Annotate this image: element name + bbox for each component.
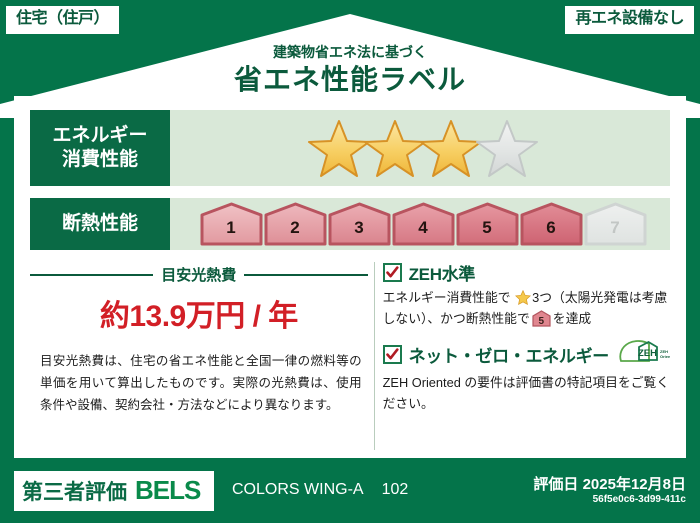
zeh-column: ZEH水準 エネルギー消費性能で 3つ（太陽光発電は考慮しない）、かつ断熱性能で… — [383, 260, 670, 456]
column-divider — [374, 262, 375, 450]
net-zero-checkbox[interactable] — [383, 345, 402, 364]
insulation-performance-value: 1234567 — [170, 198, 670, 250]
zeh-standard-checkbox[interactable] — [383, 263, 402, 282]
label-footer: 第三者評価 BELS COLORS WING-A102 評価日 2025年12月… — [0, 465, 700, 523]
insulation-performance-row: 断熱性能 1234567 — [30, 198, 670, 250]
energy-performance-label: エネルギー 消費性能 — [30, 110, 170, 186]
net-zero-body: ZEH Oriented の要件は評価書の特記項目をご覧ください。 — [383, 373, 670, 414]
house-level-filled: 3 — [328, 202, 391, 246]
cost-heading-text: 目安光熱費 — [161, 264, 236, 285]
house-level-filled: 6 — [520, 202, 583, 246]
zeh-standard-body: エネルギー消費性能で 3つ（太陽光発電は考慮しない）、かつ断熱性能で5を達成 — [383, 288, 670, 329]
project-name: COLORS WING-A — [232, 481, 364, 498]
cost-rule-left — [30, 274, 153, 276]
bels-logo-text: BELS — [135, 475, 200, 506]
house-level-filled: 1 — [200, 202, 263, 246]
inline-star-icon — [515, 290, 531, 305]
energy-label-line2: 消費性能 — [62, 148, 138, 172]
net-zero-block: ネット・ゼロ・エネルギー ZEH ZEH Oriented ZEH Orient… — [383, 339, 670, 414]
house-level-empty: 7 — [584, 202, 647, 246]
energy-performance-value — [170, 110, 670, 186]
energy-label-line1: エネルギー — [52, 124, 147, 148]
label-title: 省エネ性能ラベル — [0, 64, 700, 95]
net-zero-title: ネット・ゼロ・エネルギー — [409, 342, 609, 367]
zeh-body-part3: を達成 — [553, 311, 591, 326]
utility-cost-note: 目安光熱費は、住宅の省エネ性能と全国一律の燃料等の単価を用いて算出したものです。… — [30, 351, 368, 417]
inline-house-level: 5 — [532, 314, 551, 330]
zeh-standard-title: ZEH水準 — [409, 260, 476, 285]
house-level-filled: 4 — [392, 202, 455, 246]
utility-cost-amount: 約13.9万円 / 年 — [30, 291, 368, 335]
project-name-row: COLORS WING-A102 — [232, 481, 408, 499]
zeh-standard-block: ZEH水準 エネルギー消費性能で 3つ（太陽光発電は考慮しない）、かつ断熱性能で… — [383, 260, 670, 329]
house-level-filled: 2 — [264, 202, 327, 246]
label-title-block: 建築物省エネ法に基づく 省エネ性能ラベル — [0, 42, 700, 95]
label-subtitle: 建築物省エネ法に基づく — [0, 42, 700, 62]
star-rating — [311, 118, 535, 178]
energy-performance-row: エネルギー 消費性能 — [30, 110, 670, 186]
cost-rule-right — [244, 274, 367, 276]
insulation-scale: 1234567 — [200, 202, 647, 246]
building-type-tag: 住宅（住戸） — [6, 6, 119, 34]
star-filled-icon — [420, 118, 482, 178]
lower-section: 目安光熱費 約13.9万円 / 年 目安光熱費は、住宅の省エネ性能と全国一律の燃… — [30, 260, 670, 456]
third-party-eval-text: 第三者評価 — [22, 476, 127, 506]
svg-text:Oriented: Oriented — [660, 354, 670, 359]
zeh-standard-title-row: ZEH水準 — [383, 260, 670, 285]
svg-text:ZEH: ZEH — [638, 348, 657, 359]
house-level-filled: 5 — [456, 202, 519, 246]
insulation-performance-label: 断熱性能 — [30, 198, 170, 250]
energy-label-root: 住宅（住戸） 再エネ設備なし 建築物省エネ法に基づく 省エネ性能ラベル エネルギ… — [0, 0, 700, 523]
zeh-body-part1: エネルギー消費性能で — [383, 290, 511, 305]
star-filled-icon — [364, 118, 426, 178]
insulation-label-text: 断熱性能 — [62, 212, 138, 236]
zeh-oriented-badge-icon: ZEH ZEH Oriented — [618, 339, 670, 370]
evaluation-date: 評価日 2025年12月8日 — [533, 473, 686, 494]
bels-tag: 第三者評価 BELS — [14, 471, 214, 511]
inline-house-badge: 5 — [532, 310, 551, 327]
unit-number: 102 — [382, 481, 409, 498]
label-card: エネルギー 消費性能 断熱性能 1234567 目安光熱費 — [14, 96, 686, 458]
star-filled-icon — [308, 118, 370, 178]
utility-cost-column: 目安光熱費 約13.9万円 / 年 目安光熱費は、住宅の省エネ性能と全国一律の燃… — [30, 260, 374, 456]
star-empty-icon — [476, 118, 538, 178]
renewable-equipment-tag: 再エネ設備なし — [565, 6, 694, 34]
evaluation-id: 56f5e0c6-3d99-411c — [593, 494, 686, 505]
net-zero-title-row: ネット・ゼロ・エネルギー ZEH ZEH Oriented — [383, 339, 670, 370]
utility-cost-heading: 目安光熱費 — [30, 264, 368, 285]
